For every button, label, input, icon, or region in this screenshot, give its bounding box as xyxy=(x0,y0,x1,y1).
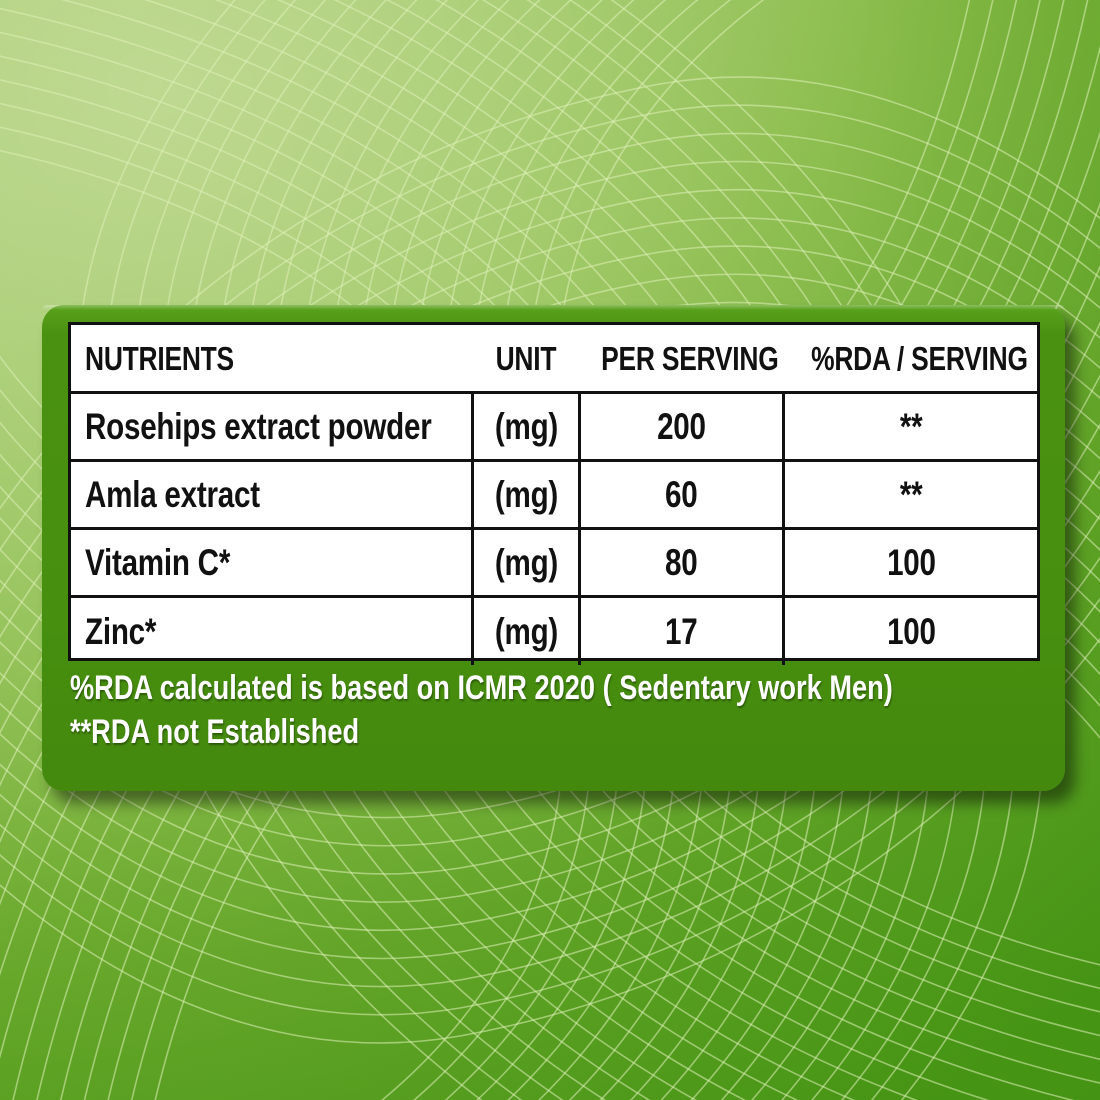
cell-unit: (mg) xyxy=(473,597,579,665)
footnote-rda-basis-text: %RDA calculated is based on ICMR 2020 ( … xyxy=(70,667,893,711)
card-top-highlight xyxy=(42,305,1065,310)
cell-per-serving: 17 xyxy=(579,597,784,665)
rda-value: 100 xyxy=(887,544,936,581)
table-row: Vitamin C* (mg) 80 100 xyxy=(71,529,1037,597)
cell-rda: 100 xyxy=(784,529,1037,597)
per-serving-value: 200 xyxy=(657,408,706,445)
unit-text: (mg) xyxy=(494,544,557,581)
table-row: Zinc* (mg) 17 100 xyxy=(71,597,1037,665)
column-header-per-serving: PER SERVING xyxy=(579,325,784,393)
cell-rda: ** xyxy=(784,393,1037,461)
footnote-rda-not-established: **RDA not Established xyxy=(70,711,1050,755)
footnotes: %RDA calculated is based on ICMR 2020 ( … xyxy=(70,667,1050,754)
column-header-unit-label: UNIT xyxy=(496,342,557,375)
column-header-per-serving-label: PER SERVING xyxy=(601,342,778,375)
nutrient-name-text: Zinc* xyxy=(85,613,156,650)
column-header-nutrients-label: NUTRIENTS xyxy=(85,342,234,375)
rda-value: 100 xyxy=(887,613,936,650)
nutrition-facts-card: NUTRIENTS UNIT PER SERVING %RDA / SERVIN… xyxy=(42,305,1065,791)
cell-nutrient-name: Zinc* xyxy=(71,597,473,665)
column-header-rda-per-serving: %RDA / SERVING xyxy=(784,325,1037,393)
per-serving-value: 60 xyxy=(665,476,697,513)
rda-value: ** xyxy=(900,476,923,513)
nutrient-name-text: Amla extract xyxy=(85,476,260,513)
column-header-unit: UNIT xyxy=(473,325,579,393)
per-serving-value: 17 xyxy=(665,613,697,650)
unit-text: (mg) xyxy=(494,408,557,445)
footnote-rda-basis: %RDA calculated is based on ICMR 2020 ( … xyxy=(70,667,1050,711)
nutrient-name-text: Rosehips extract powder xyxy=(85,408,431,445)
column-header-rda-per-serving-label: %RDA / SERVING xyxy=(811,342,1028,375)
footnote-rda-not-established-text: **RDA not Established xyxy=(70,711,359,755)
cell-nutrient-name: Vitamin C* xyxy=(71,529,473,597)
cell-unit: (mg) xyxy=(473,529,579,597)
cell-per-serving: 60 xyxy=(579,461,784,529)
cell-unit: (mg) xyxy=(473,393,579,461)
table-row: Amla extract (mg) 60 ** xyxy=(71,461,1037,529)
cell-per-serving: 200 xyxy=(579,393,784,461)
cell-rda: 100 xyxy=(784,597,1037,665)
table-header-row: NUTRIENTS UNIT PER SERVING %RDA / SERVIN… xyxy=(71,325,1037,393)
cell-per-serving: 80 xyxy=(579,529,784,597)
table-row: Rosehips extract powder (mg) 200 ** xyxy=(71,393,1037,461)
cell-nutrient-name: Rosehips extract powder xyxy=(71,393,473,461)
per-serving-value: 80 xyxy=(665,544,697,581)
cell-rda: ** xyxy=(784,461,1037,529)
unit-text: (mg) xyxy=(494,613,557,650)
unit-text: (mg) xyxy=(494,476,557,513)
rda-value: ** xyxy=(900,408,923,445)
cell-unit: (mg) xyxy=(473,461,579,529)
column-header-nutrients: NUTRIENTS xyxy=(71,325,473,393)
nutrition-table-container: NUTRIENTS UNIT PER SERVING %RDA / SERVIN… xyxy=(68,322,1040,661)
nutrition-table: NUTRIENTS UNIT PER SERVING %RDA / SERVIN… xyxy=(71,325,1037,665)
nutrient-name-text: Vitamin C* xyxy=(85,544,230,581)
nutrition-label-image: NUTRIENTS UNIT PER SERVING %RDA / SERVIN… xyxy=(0,0,1100,1100)
cell-nutrient-name: Amla extract xyxy=(71,461,473,529)
